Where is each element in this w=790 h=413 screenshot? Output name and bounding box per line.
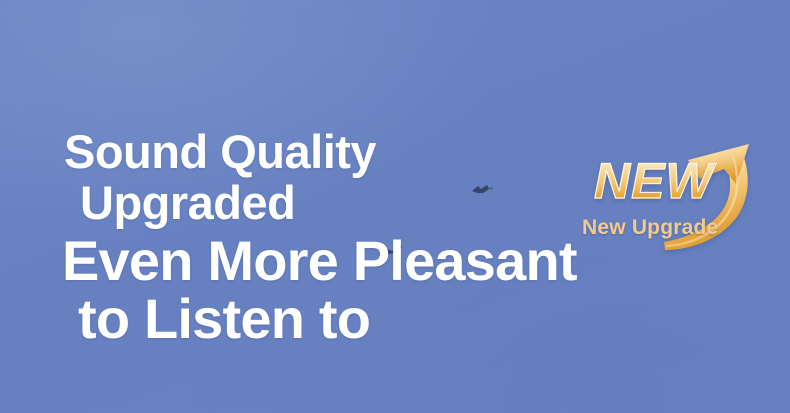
subheadline-line-2: to Listen to (62, 290, 577, 348)
headline-line-1: Sound Quality (64, 125, 376, 178)
badge-title: NEW (594, 156, 714, 206)
badge-subtitle: New Upgrade (582, 216, 718, 240)
headline-line-2: Upgraded (64, 177, 376, 228)
promo-banner: Sound Quality Upgraded Even More Pleasan… (0, 0, 790, 413)
subheadline: Even More Pleasant to Listen to (62, 232, 577, 348)
subheadline-line-1: Even More Pleasant (62, 229, 577, 292)
new-upgrade-badge: NEW New Upgrade (560, 140, 790, 265)
headline: Sound Quality Upgraded (64, 126, 376, 228)
flying-speck-upper-icon (468, 180, 494, 198)
